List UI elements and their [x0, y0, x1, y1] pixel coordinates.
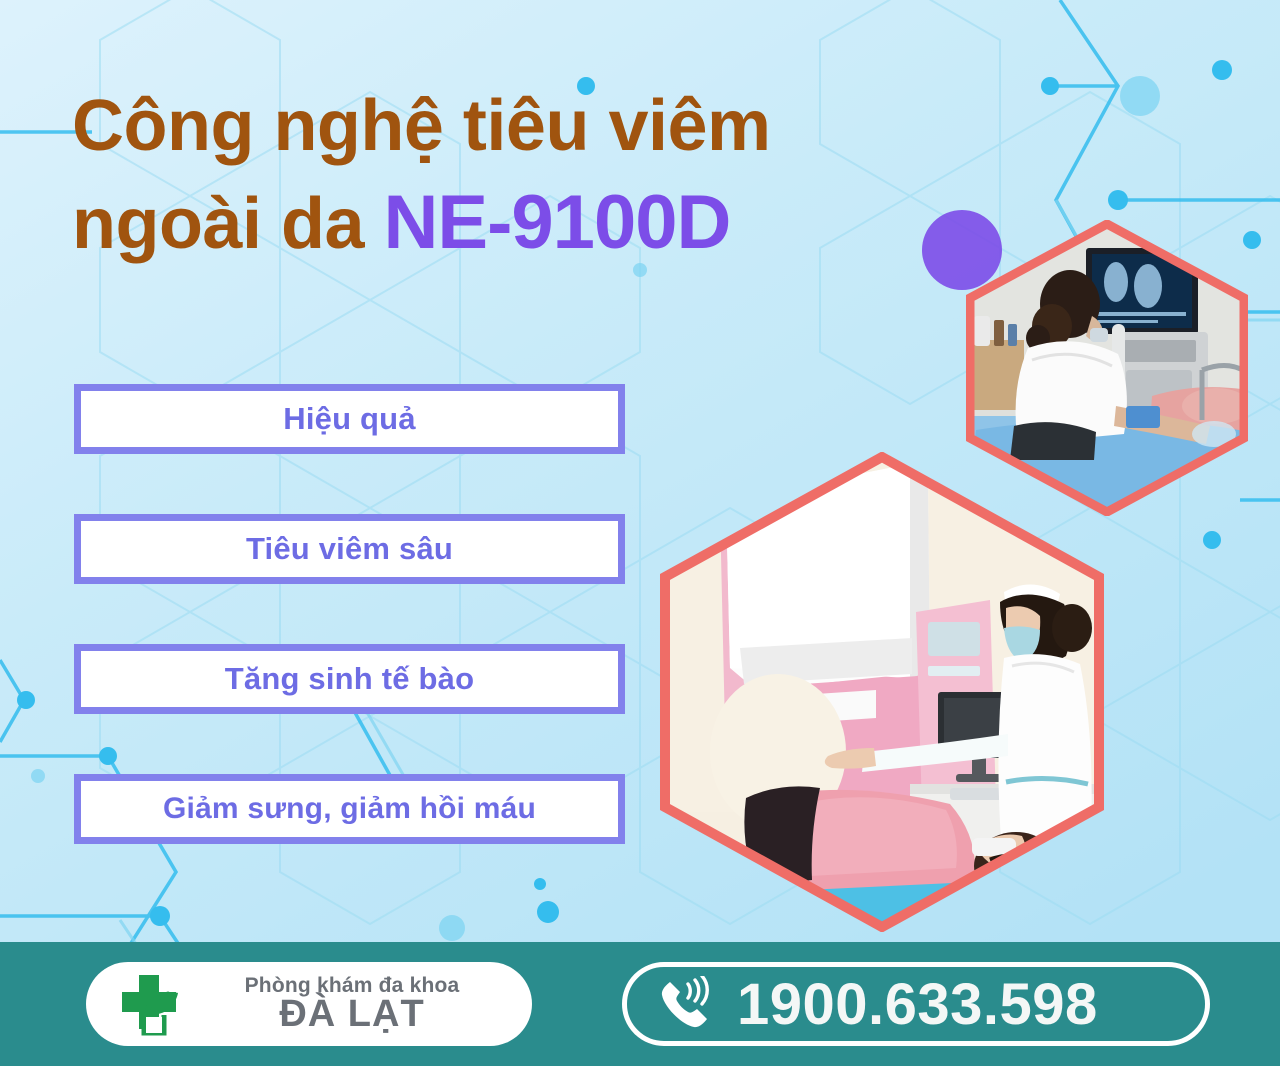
phone-ringing-icon	[657, 976, 713, 1032]
hotline-number: 1900.633.598	[737, 971, 1098, 1038]
headline: Công nghệ tiêu viêm ngoài da NE-9100D	[72, 88, 1002, 264]
feature-label: Giảm sưng, giảm hồi máu	[163, 792, 536, 826]
feature-box-4: Giảm sưng, giảm hồi máu	[74, 774, 625, 844]
headline-line-2: ngoài da NE-9100D	[72, 182, 1002, 264]
clinic-name: ĐÀ LẠT	[279, 995, 424, 1035]
feature-box-3: Tăng sinh tế bào	[74, 644, 625, 714]
product-model-name: NE-9100D	[384, 180, 731, 265]
feature-label: Hiệu quả	[283, 401, 416, 437]
medical-cross-leaf-icon	[112, 967, 186, 1041]
feature-label: Tăng sinh tế bào	[225, 661, 475, 697]
feature-label: Tiêu viêm sâu	[246, 531, 453, 567]
clinic-brand-text: Phòng khám đa khoa ĐÀ LẠT	[200, 974, 532, 1035]
therapy-machine-photo	[660, 452, 1104, 932]
clinic-brand-pill: Phòng khám đa khoa ĐÀ LẠT	[86, 962, 532, 1046]
hotline-pill[interactable]: 1900.633.598	[622, 962, 1210, 1046]
promo-poster: Công nghệ tiêu viêm ngoài da NE-9100D Hi…	[0, 0, 1280, 1066]
headline-line-2-prefix: ngoài da	[72, 184, 384, 264]
footer-bar: Phòng khám đa khoa ĐÀ LẠT 1900.633.598	[0, 942, 1280, 1066]
feature-box-2: Tiêu viêm sâu	[74, 514, 625, 584]
feature-box-1: Hiệu quả	[74, 384, 625, 454]
headline-line-1: Công nghệ tiêu viêm	[72, 88, 1002, 166]
